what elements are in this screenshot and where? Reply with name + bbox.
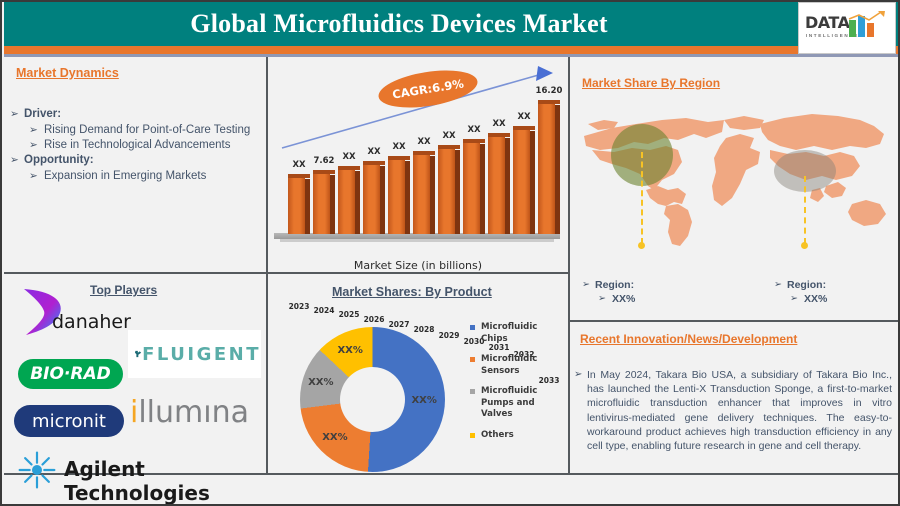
leader-line-right [804,176,806,244]
region-callout-right: Region: XX% [774,278,827,306]
logo-chart-icon [847,11,887,37]
bar-side [455,150,460,234]
bar-column: 16.202033 [538,101,560,234]
logo-agilent: Agilent Technologies [16,449,256,491]
bar-top [363,161,385,165]
opportunity-item-1: Expansion in Emerging Markets [10,169,260,184]
region-label-right: Region: [774,278,827,292]
bar-column: XX2025 [338,167,360,234]
bar-column: XX2032 [513,127,535,234]
legend-item: Others [470,430,562,442]
logo-bio-rad: BIO·RAD [18,359,123,389]
world-map [574,94,896,254]
chart-base-shadow [280,239,554,242]
bar-column: XX2026 [363,162,385,234]
bar-front [538,101,555,234]
legend-label: Others [481,430,514,440]
bar-front [488,134,505,234]
donut-legend: Microfluidic ChipsMicrofluidic SensorsMi… [470,322,562,450]
bar-top [438,145,460,149]
bar-column: 7.622024 [313,171,335,234]
region-value-right: XX% [774,292,827,306]
bar-top [388,156,410,160]
bar-top [488,133,510,137]
agilent-wordmark: Agilent Technologies [64,457,256,505]
divider-horizontal-right [568,320,898,322]
logo-illumina: illumına [130,395,260,437]
driver-label: Driver: [10,107,260,122]
bar-top [513,126,535,130]
bar-side [505,138,510,234]
infographic-page: Global Microfluidics Devices Market DATA… [0,0,900,506]
legend-swatch [470,389,475,394]
bar-top [413,151,435,155]
bar-column: XX2028 [413,152,435,234]
illumina-wordmark: llumına [138,395,249,430]
bar-side [480,144,485,234]
legend-item: Microfluidic Pumps and Valves [470,386,562,421]
danaher-wordmark: danaher [52,311,131,333]
bar-column: XX2023 [288,175,310,234]
region-value-left: XX% [582,292,635,306]
bar-front [288,175,305,234]
bar-front [513,127,530,234]
bar-side [405,161,410,234]
bar-side [355,171,360,234]
divider-horizontal-left [4,272,568,274]
donut-slice-label: XX% [308,377,333,388]
donut-slice-label: XX% [322,432,347,443]
page-title: Global Microfluidics Devices Market [4,2,794,46]
bar-top [288,174,310,178]
legend-label: Microfluidic Pumps and Valves [481,386,537,419]
bar-side [330,175,335,234]
leader-line-left [641,152,643,244]
fluigent-icon [134,339,142,369]
market-size-bar-chart: CAGR:6.9% XX20237.622024XX2025XX2026XX20… [270,60,566,272]
logo-micronit: micronit [14,405,124,437]
bar-side [530,131,535,234]
legend-item: Microfluidic Chips [470,322,562,345]
market-dynamics-list: Driver: Rising Demand for Point-of-Care … [10,107,260,184]
bar-front [363,162,380,234]
divider-vertical-left [266,57,268,475]
legend-item: Microfluidic Sensors [470,354,562,377]
news-title: Recent Innovation/News/Development [580,332,797,346]
legend-swatch [470,357,475,362]
bar-front [338,167,355,234]
legend-label: Microfluidic Sensors [481,354,537,376]
agilent-icon [16,449,58,491]
opportunity-label: Opportunity: [10,153,260,168]
bar-column: XX2029 [438,146,460,234]
brand-logo: DATA INTELLIGENCE [798,2,896,54]
driver-item-1: Rising Demand for Point-of-Care Testing [10,123,260,138]
bar-top [313,170,335,174]
driver-item-2: Rise in Technological Advancements [10,138,260,153]
legend-label: Microfluidic Chips [481,322,537,344]
market-share-region-title: Market Share By Region [582,76,720,90]
logo-inner: DATA INTELLIGENCE [803,11,893,47]
region-label-left: Region: [582,278,635,292]
bar-front [438,146,455,234]
bar-value-label: 16.20 [532,86,566,96]
bar-top [463,139,485,143]
bar-top [538,100,560,104]
bar-side [555,105,560,234]
bar-column: XX2031 [488,134,510,234]
bar-value-label: XX [507,112,541,122]
logo-wordmark: DATA [805,13,849,32]
bar-chart-caption: Market Size (in billions) [270,259,566,272]
news-text: In May 2024, Takara Bio USA, a subsidiar… [574,368,892,453]
market-shares-title: Market Shares: By Product [332,285,492,299]
bar-side [430,156,435,234]
fluigent-wordmark: FLUIGENT [142,344,261,365]
leader-dot-right [801,242,808,249]
region-callout-left: Region: XX% [582,278,635,306]
bar-side [305,179,310,234]
legend-swatch [470,325,475,330]
leader-dot-left [638,242,645,249]
bar-front [463,140,480,234]
header-accent-shadow [4,54,898,57]
page-header: Global Microfluidics Devices Market [4,2,898,46]
header-accent-bar [4,46,898,54]
donut-slice-label: XX% [337,345,362,356]
donut-slice-label: XX% [411,395,436,406]
bar-column: XX2027 [388,157,410,234]
bar-front [413,152,430,234]
bar-side [380,166,385,234]
divider-vertical-right [568,57,570,475]
market-dynamics-title: Market Dynamics [16,66,119,80]
bar-front [388,157,405,234]
logo-danaher: danaher [12,285,132,341]
bar-column: XX2030 [463,140,485,234]
bar-top [338,166,360,170]
legend-swatch [470,433,475,438]
logo-fluigent: FLUIGENT [128,330,261,378]
bar-front [313,171,330,234]
donut-hole [340,367,405,432]
